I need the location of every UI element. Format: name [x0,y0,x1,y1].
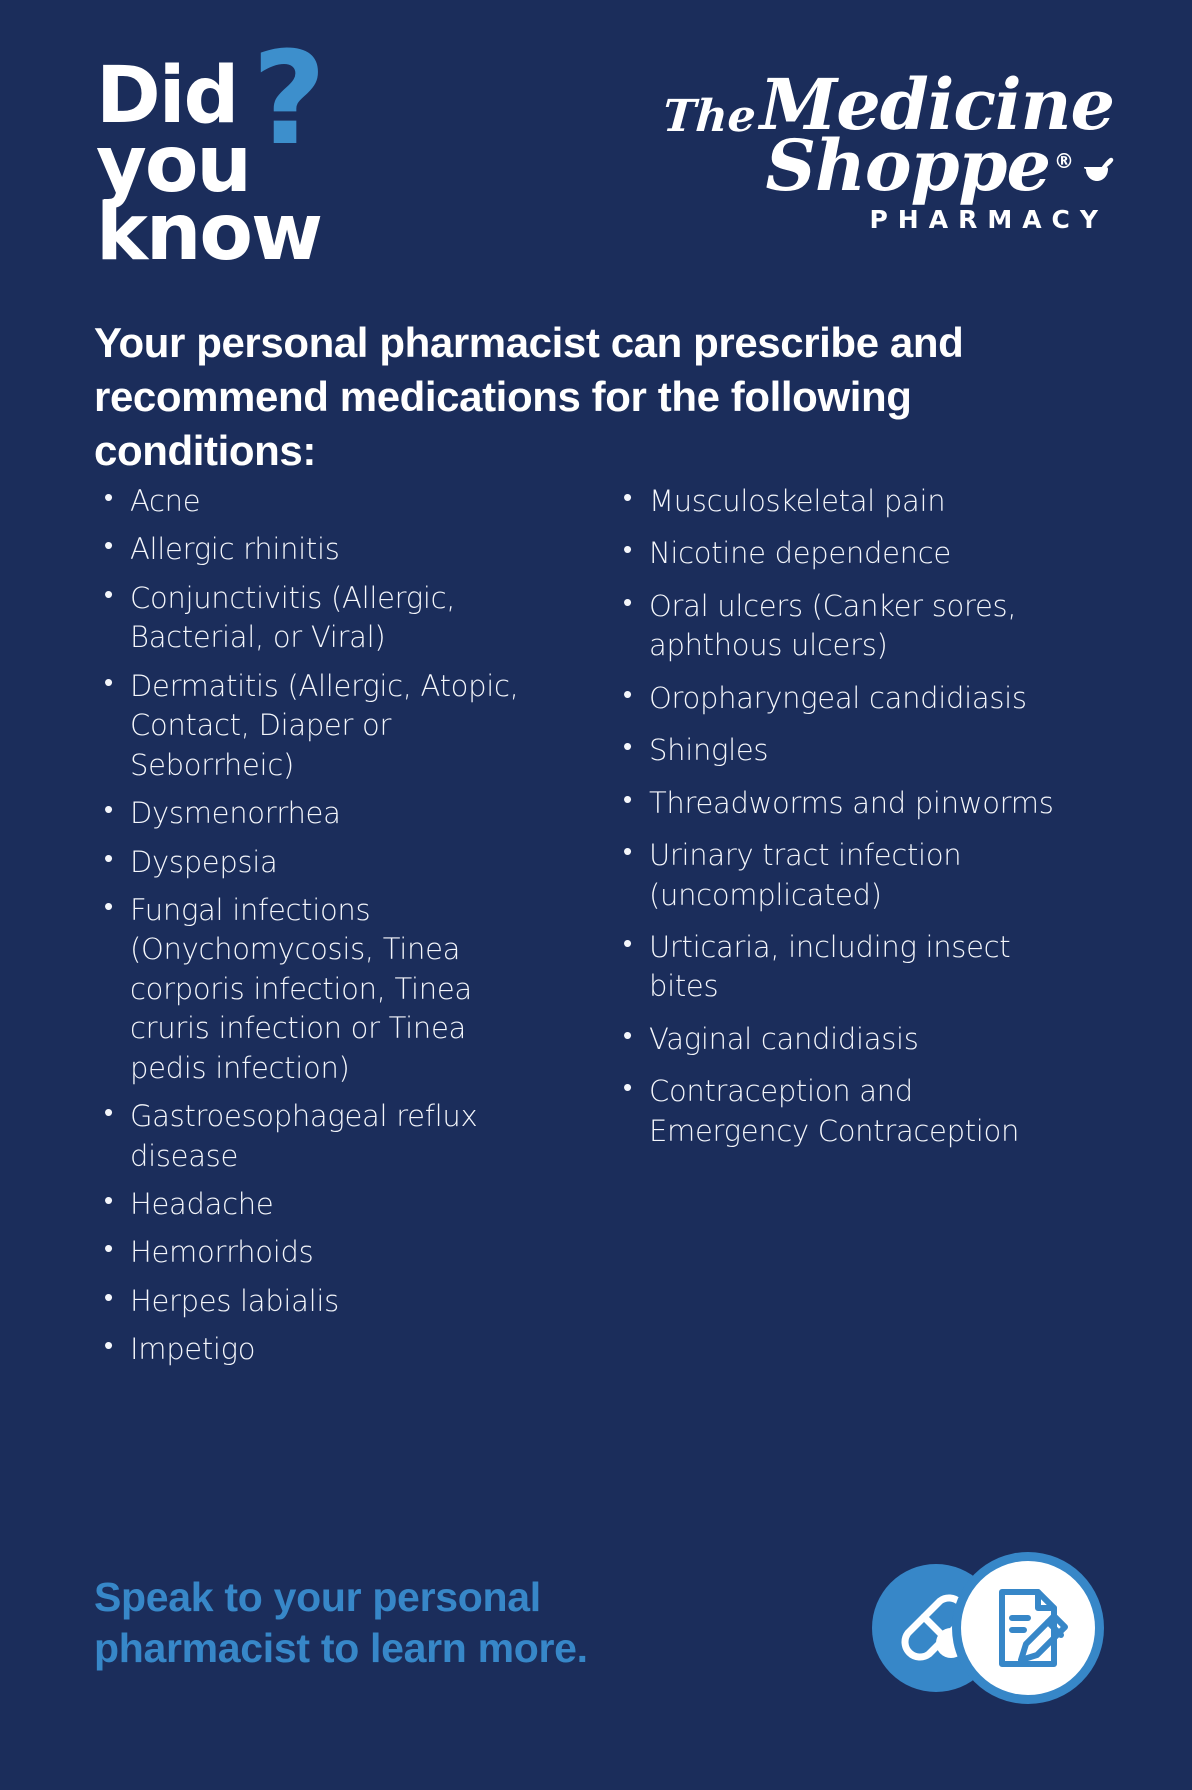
list-item: Vaginal candidiasis [615,1020,1070,1059]
did-you-know-headline: Did you ? know [96,62,426,268]
list-item: Oral ulcers (Canker sores, aphthous ulce… [615,587,1070,666]
mortar-and-pestle-icon [1080,155,1114,189]
prescription-document-pen-icon [961,1561,1095,1695]
headline-line-know: know [96,199,426,268]
list-item: Headache [96,1185,551,1224]
poster-header: Did you ? know The Medicine Shoppe ® [0,0,1192,300]
poster-canvas: Did you ? know The Medicine Shoppe ® [0,0,1192,1790]
list-item: Dyspepsia [96,843,551,882]
question-mark-glyph: ? [252,54,322,146]
list-item: Nicotine dependence [615,534,1070,573]
conditions-column-left: Acne Allergic rhinitis Conjunctivitis (A… [96,482,551,1379]
list-item: Herpes labialis [96,1282,551,1321]
logo-word-the: The [662,95,758,139]
list-item: Conjunctivitis (Allergic, Bacterial, or … [96,579,551,658]
list-item: Acne [96,482,551,521]
list-item: Urticaria, including insect bites [615,928,1070,1007]
medicine-shoppe-logo: The Medicine Shoppe ® PHARMACY [754,72,1114,234]
logo-tagline-pharmacy: PHARMACY [754,205,1114,234]
logo-word-shoppe: Shoppe [765,133,1050,200]
list-item: Gastroesophageal reflux disease [96,1097,551,1176]
call-to-action-text: Speak to your personal pharmacist to lea… [94,1572,734,1675]
footer-icon-badges [872,1552,1104,1704]
prescription-document-pen-badge [952,1552,1104,1704]
list-item: Impetigo [96,1330,551,1369]
cta-line-2: pharmacist to learn more. [94,1623,734,1674]
registered-trademark-icon: ® [1054,151,1074,171]
main-heading: Your personal pharmacist can prescribe a… [94,316,1104,477]
list-item: Shingles [615,731,1070,770]
list-item: Fungal infections (Onychomycosis, Tinea … [96,891,551,1088]
conditions-column-right: Musculoskeletal pain Nicotine dependence… [615,482,1070,1379]
list-item: Dysmenorrhea [96,794,551,833]
list-item: Allergic rhinitis [96,530,551,569]
list-item: Dermatitis (Allergic, Atopic, Contact, D… [96,667,551,785]
cta-line-1: Speak to your personal [94,1572,734,1623]
conditions-columns: Acne Allergic rhinitis Conjunctivitis (A… [96,482,1132,1379]
list-item: Musculoskeletal pain [615,482,1070,521]
list-item: Threadworms and pinworms [615,784,1070,823]
list-item: Contraception and Emergency Contraceptio… [615,1072,1070,1151]
conditions-list-right: Musculoskeletal pain Nicotine dependence… [615,482,1070,1151]
list-item: Oropharyngeal candidiasis [615,679,1070,718]
list-item: Urinary tract infection (uncomplicated) [615,836,1070,915]
conditions-list-left: Acne Allergic rhinitis Conjunctivitis (A… [96,482,551,1370]
list-item: Hemorrhoids [96,1233,551,1272]
